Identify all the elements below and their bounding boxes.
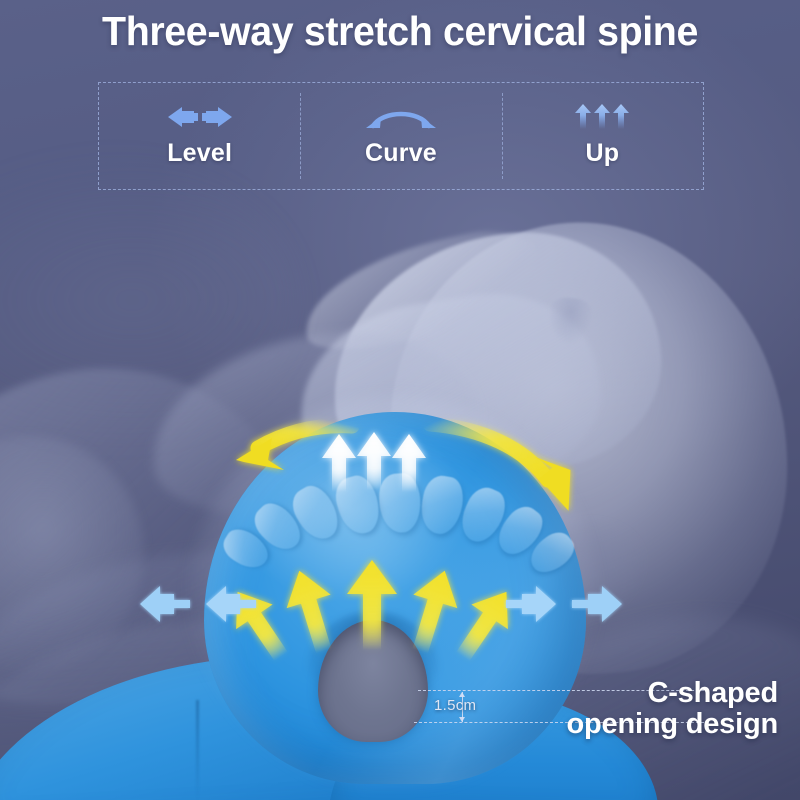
double-horizontal-arrow-icon — [154, 104, 246, 130]
cervical-vertebrae-relief — [220, 476, 570, 596]
caption-line-2: opening design — [478, 709, 778, 740]
page-title: Three-way stretch cervical spine — [16, 8, 784, 55]
pillow-base-seam — [196, 700, 199, 800]
feature-legend: Level Curve — [98, 82, 704, 190]
triple-up-arrow-icon — [562, 104, 642, 130]
legend-label-curve: Curve — [365, 139, 437, 168]
legend-item-up[interactable]: Up — [502, 83, 703, 189]
caption-line-1: C-shaped — [478, 678, 778, 709]
infographic-canvas: 1.5cm Three-way stretch cervical spine L… — [0, 0, 800, 800]
legend-label-level: Level — [167, 139, 232, 168]
dimension-value: 1.5cm — [434, 697, 476, 714]
caption-c-shaped-opening: C-shaped opening design — [478, 678, 778, 741]
legend-label-up: Up — [585, 139, 619, 168]
curved-double-arrow-icon — [353, 104, 449, 130]
legend-item-level[interactable]: Level — [99, 83, 300, 189]
legend-item-curve[interactable]: Curve — [300, 83, 501, 189]
